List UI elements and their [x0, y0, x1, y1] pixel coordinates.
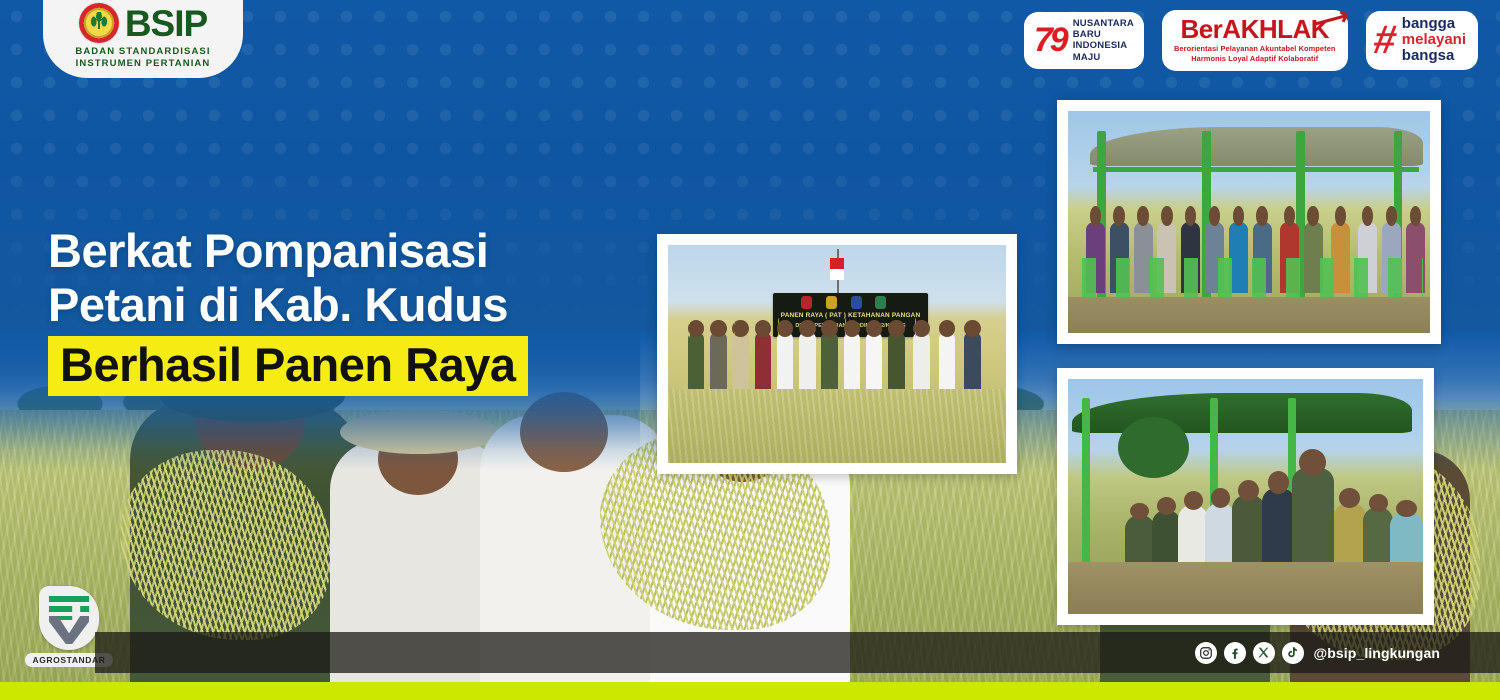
headline-highlight: Berhasil Panen Raya	[48, 336, 528, 396]
panen-raya-photo: PANEN RAYA ( PAT ) KETAHANAN PANGAN DINA…	[668, 245, 1006, 463]
hashtag-icon: #	[1370, 20, 1399, 60]
hut-79-logo: 79 NUSANTARA BARU INDONESIA MAJU	[1024, 12, 1144, 69]
berakhlak-logo: ⟶ BerAKHLAK Berorientasi Pelayanan Akunt…	[1162, 10, 1348, 71]
bangga-line1: bangga	[1402, 16, 1466, 32]
hut-line2: BARU	[1073, 29, 1134, 40]
canopy-post	[1082, 398, 1090, 567]
ground-strip	[1068, 562, 1423, 614]
seal-icon-2	[826, 296, 837, 309]
headline-line-1: Berkat Pompanisasi	[48, 224, 668, 278]
photo-card-top-right	[1057, 100, 1441, 344]
bangga-line3: bangsa	[1402, 48, 1466, 64]
hut-number: 79	[1034, 23, 1066, 57]
tent-gathering-photo	[1068, 111, 1430, 333]
bottom-accent-stripe	[0, 682, 1500, 700]
indonesia-flag-icon	[830, 258, 844, 280]
bsip-logo-panel: BSIP BADAN STANDARDISASI INSTRUMEN PERTA…	[43, 0, 243, 78]
photo-card-bottom-right	[1057, 368, 1434, 625]
hut-line3: INDONESIA	[1073, 40, 1134, 51]
social-handle: @bsip_lingkungan	[1314, 645, 1440, 661]
seal-icon-3	[851, 296, 862, 309]
ground-strip	[1068, 297, 1430, 333]
top-right-logo-group: 79 NUSANTARA BARU INDONESIA MAJU ⟶ BerAK…	[1024, 10, 1478, 71]
facebook-icon[interactable]	[1224, 642, 1246, 664]
hut-line1: NUSANTARA	[1073, 18, 1134, 29]
headline-block: Berkat Pompanisasi Petani di Kab. Kudus …	[48, 224, 668, 396]
x-twitter-icon[interactable]	[1253, 642, 1275, 664]
headline-line-2: Petani di Kab. Kudus	[48, 278, 668, 332]
berakhlak-tagline-1: Berorientasi Pelayanan Akuntabel Kompete…	[1174, 44, 1336, 54]
seal-icon-4	[875, 296, 886, 309]
tiktok-icon[interactable]	[1282, 642, 1304, 664]
berakhlak-tagline-2: Harmonis Loyal Adaptif Kolaboratif	[1174, 54, 1336, 64]
hut-line4: MAJU	[1073, 52, 1134, 63]
instagram-icon[interactable]	[1195, 642, 1217, 664]
bsip-subtitle-line2: INSTRUMEN PERTANIAN	[75, 58, 210, 70]
social-media-bar: @bsip_lingkungan	[95, 632, 1500, 673]
social-icons-group	[1195, 642, 1304, 664]
agrostandar-leaf-icon	[39, 586, 99, 650]
tent-beam	[1093, 167, 1419, 173]
bangga-line2: melayani	[1402, 32, 1466, 48]
harvested-field	[668, 389, 1006, 463]
photo-card-center: PANEN RAYA ( PAT ) KETAHANAN PANGAN DINA…	[657, 234, 1017, 474]
canopy-roof	[1072, 393, 1413, 433]
seal-icon-1	[801, 296, 812, 309]
poster-canvas: BSIP BADAN STANDARDISASI INSTRUMEN PERTA…	[0, 0, 1500, 700]
bsip-subtitle-line1: BADAN STANDARDISASI	[75, 46, 210, 58]
officials-seated-photo	[1068, 379, 1423, 614]
bangga-melayani-bangsa-logo: # bangga melayani bangsa	[1366, 11, 1478, 70]
tent-canopy	[1090, 127, 1423, 167]
bsip-wordmark: BSIP	[125, 5, 207, 42]
agriculture-emblem-icon	[79, 3, 119, 43]
people-row	[682, 332, 1000, 397]
green-chairs	[1082, 258, 1422, 298]
banner-line-1: PANEN RAYA ( PAT ) KETAHANAN PANGAN	[779, 312, 922, 319]
